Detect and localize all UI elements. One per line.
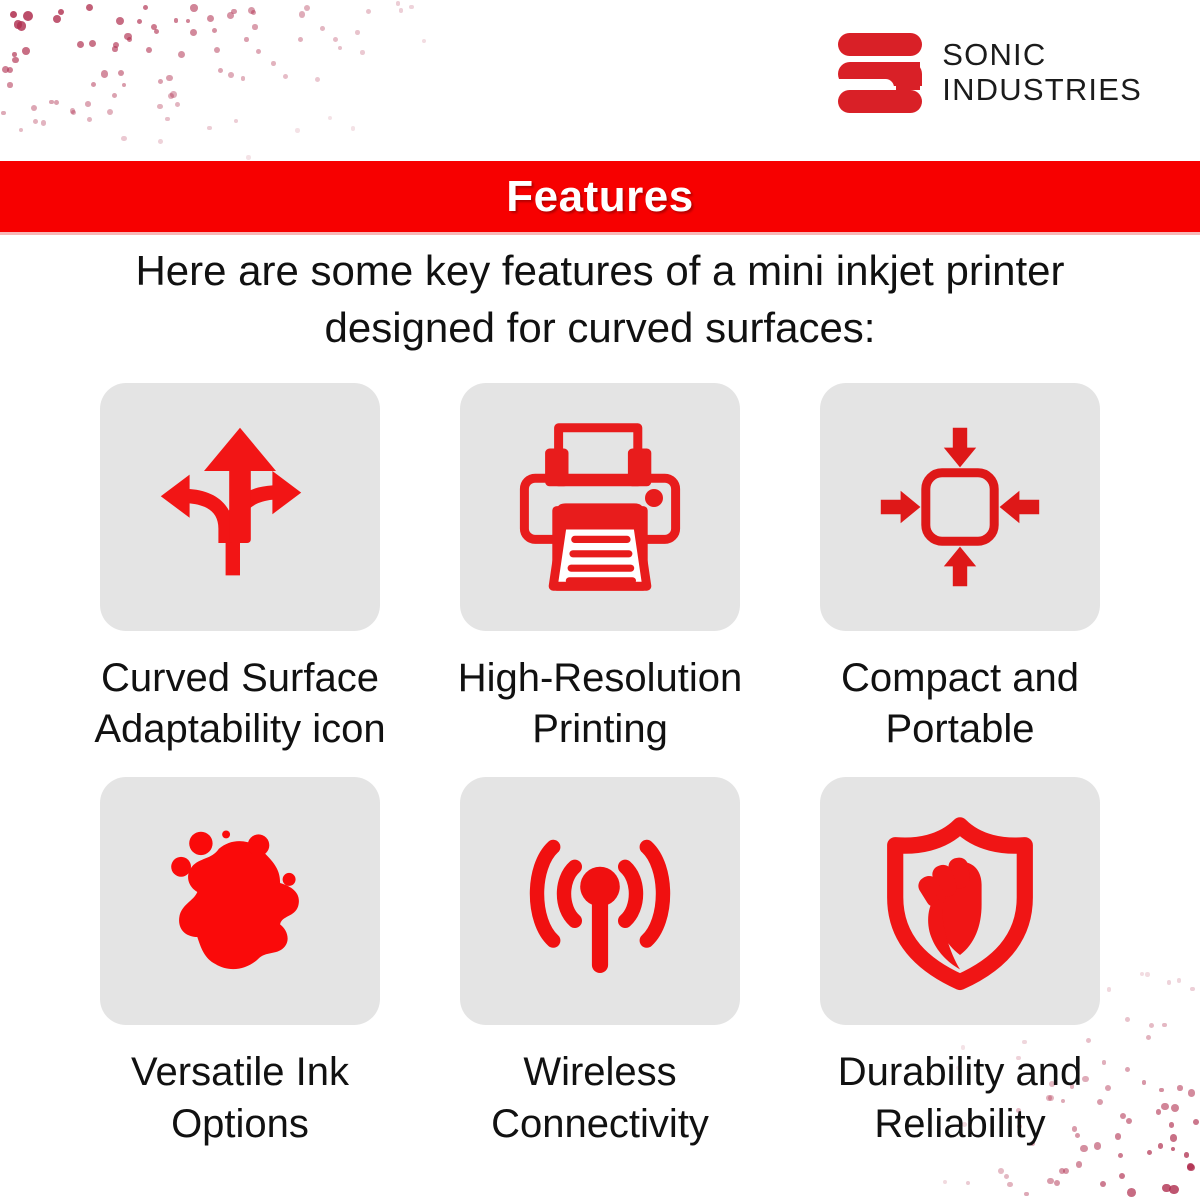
feature-caption: Durability and Reliability (790, 1047, 1130, 1149)
feature-label-line1: Durability and (790, 1047, 1130, 1098)
feature-label-line1: Curved Surface (70, 653, 410, 704)
ink-splatter-icon (148, 811, 333, 991)
features-banner: Features (0, 161, 1200, 232)
icon-tile (100, 777, 380, 1025)
feature-label-line2: Printing (430, 704, 770, 755)
feature-label-line2: Reliability (790, 1099, 1130, 1150)
feature-caption: Compact and Portable (790, 653, 1130, 755)
banner-underline (0, 232, 1200, 235)
compress-arrows-icon (870, 417, 1050, 597)
icon-tile (460, 777, 740, 1025)
logo-bar-bottom (838, 90, 922, 113)
page-title: Features (506, 172, 693, 222)
icon-tile (460, 383, 740, 631)
feature-card-compact-and-portable[interactable]: Compact and Portable (780, 383, 1140, 755)
logo-bar-top (838, 33, 922, 56)
feature-label-line2: Options (70, 1099, 410, 1150)
feature-label-line1: Versatile Ink (70, 1047, 410, 1098)
shield-fist-icon (870, 811, 1050, 991)
icon-tile (100, 383, 380, 631)
feature-label-line1: Wireless (430, 1047, 770, 1098)
brand-logo: SONIC INDUSTRIES (836, 31, 1142, 115)
logo-stem (896, 62, 920, 90)
subtitle-text: Here are some key features of a mini ink… (60, 243, 1140, 356)
feature-caption: Versatile Ink Options (70, 1047, 410, 1149)
brand-name: SONIC INDUSTRIES (942, 38, 1142, 107)
feature-caption: Wireless Connectivity (430, 1047, 770, 1149)
feature-caption: Curved Surface Adaptability icon (70, 653, 410, 755)
feature-card-wireless-connectivity[interactable]: Wireless Connectivity (420, 777, 780, 1149)
icon-tile (820, 777, 1100, 1025)
feature-card-high-resolution-printing[interactable]: High-Resolution Printing (420, 383, 780, 755)
feature-card-curved-surface-adaptability[interactable]: Curved Surface Adaptability icon (60, 383, 420, 755)
feature-row-1: Curved Surface Adaptability icon (60, 383, 1140, 755)
feature-label-line2: Connectivity (430, 1099, 770, 1150)
feature-label-line2: Portable (790, 704, 1130, 755)
feature-label-line1: Compact and (790, 653, 1130, 704)
feature-label-line1: High-Resolution (430, 653, 770, 704)
poster-canvas: SONIC INDUSTRIES Features Here are some … (0, 0, 1200, 1199)
printer-icon (505, 417, 695, 597)
three-way-arrow-icon (150, 417, 330, 597)
header: SONIC INDUSTRIES (0, 0, 1200, 161)
feature-caption: High-Resolution Printing (430, 653, 770, 755)
feature-card-versatile-ink-options[interactable]: Versatile Ink Options (60, 777, 420, 1149)
feature-label-line2: Adaptability icon (70, 704, 410, 755)
brand-name-line1: SONIC (942, 38, 1142, 73)
feature-grid: Curved Surface Adaptability icon (60, 383, 1140, 1150)
feature-row-2: Versatile Ink Options (60, 777, 1140, 1149)
sonic-industries-logo-mark (836, 31, 922, 115)
wireless-signal-icon (510, 811, 690, 991)
feature-card-durability-and-reliability[interactable]: Durability and Reliability (780, 777, 1140, 1149)
icon-tile (820, 383, 1100, 631)
brand-name-line2: INDUSTRIES (942, 73, 1142, 108)
